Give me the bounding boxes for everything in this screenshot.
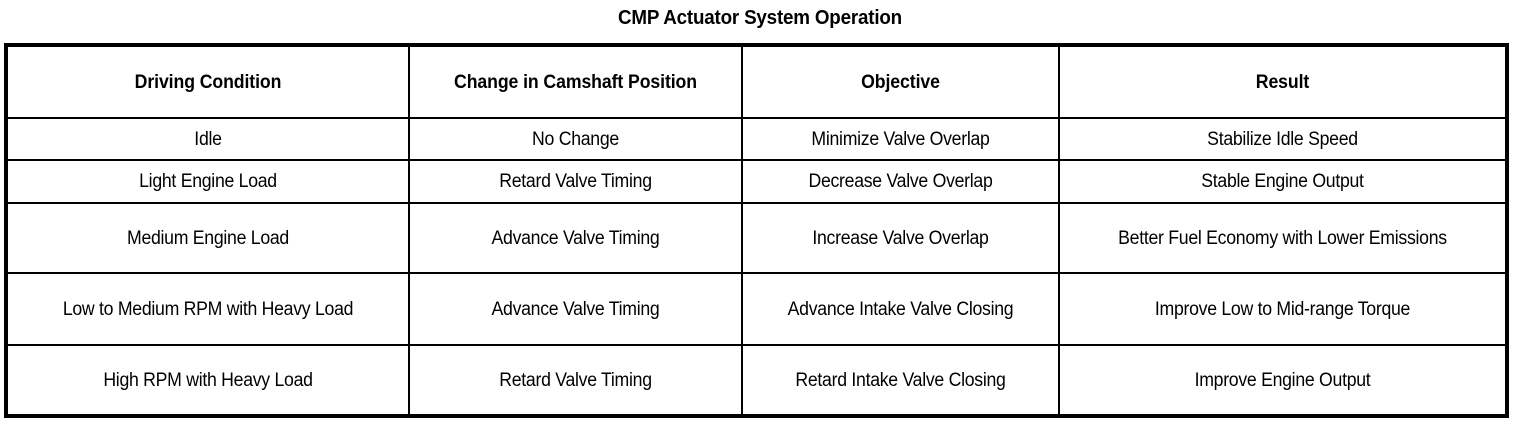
cell-objective-text: Minimize Valve Overlap (760, 127, 1042, 152)
cell-camshaft-change-text: Advance Valve Timing (427, 226, 724, 251)
cell-result: Stabilize Idle Speed (1059, 118, 1507, 160)
table-row: Low to Medium RPM with Heavy Load Advanc… (6, 273, 1507, 345)
cell-driving-condition-text: Low to Medium RPM with Heavy Load (28, 297, 389, 322)
cell-camshaft-change: Advance Valve Timing (409, 203, 742, 273)
cell-result: Better Fuel Economy with Lower Emissions (1059, 203, 1507, 273)
column-header-objective-label: Objective (760, 70, 1042, 95)
cell-camshaft-change-text: Retard Valve Timing (427, 368, 724, 393)
page-root: CMP Actuator System Operation Driving Co… (0, 0, 1520, 426)
cmp-actuator-operation-table: Driving Condition Change in Camshaft Pos… (4, 43, 1509, 418)
cell-driving-condition-text: Light Engine Load (28, 169, 389, 194)
table-row: Medium Engine Load Advance Valve Timing … (6, 203, 1507, 273)
cell-result-text: Stable Engine Output (1081, 169, 1484, 194)
column-header-objective: Objective (742, 45, 1059, 118)
cell-result-text: Better Fuel Economy with Lower Emissions (1081, 226, 1484, 251)
table-row: High RPM with Heavy Load Retard Valve Ti… (6, 345, 1507, 416)
table-container: Driving Condition Change in Camshaft Pos… (4, 43, 1509, 418)
cell-objective-text: Increase Valve Overlap (760, 226, 1042, 251)
cell-driving-condition-text: Idle (28, 127, 389, 152)
cell-result: Stable Engine Output (1059, 160, 1507, 203)
table-body: Idle No Change Minimize Valve Overlap St… (6, 118, 1507, 416)
cell-driving-condition: Light Engine Load (6, 160, 409, 203)
table-header-row: Driving Condition Change in Camshaft Pos… (6, 45, 1507, 118)
cell-camshaft-change: Retard Valve Timing (409, 160, 742, 203)
cell-camshaft-change-text: No Change (427, 127, 724, 152)
cell-objective-text: Decrease Valve Overlap (760, 169, 1042, 194)
cell-objective: Minimize Valve Overlap (742, 118, 1059, 160)
column-header-result-label: Result (1081, 70, 1484, 95)
cell-camshaft-change: Advance Valve Timing (409, 273, 742, 345)
cell-objective-text: Advance Intake Valve Closing (760, 297, 1042, 322)
cell-objective-text: Retard Intake Valve Closing (760, 368, 1042, 393)
cell-result-text: Improve Engine Output (1081, 368, 1484, 393)
table-row: Idle No Change Minimize Valve Overlap St… (6, 118, 1507, 160)
column-header-driving-condition: Driving Condition (6, 45, 409, 118)
cell-driving-condition: Low to Medium RPM with Heavy Load (6, 273, 409, 345)
column-header-driving-condition-label: Driving Condition (28, 70, 389, 95)
table-header: Driving Condition Change in Camshaft Pos… (6, 45, 1507, 118)
cell-camshaft-change: No Change (409, 118, 742, 160)
cell-result-text: Improve Low to Mid-range Torque (1081, 297, 1484, 322)
column-header-result: Result (1059, 45, 1507, 118)
cell-camshaft-change-text: Retard Valve Timing (427, 169, 724, 194)
cell-driving-condition: High RPM with Heavy Load (6, 345, 409, 416)
cell-result: Improve Low to Mid-range Torque (1059, 273, 1507, 345)
cell-driving-condition-text: Medium Engine Load (28, 226, 389, 251)
cell-driving-condition-text: High RPM with Heavy Load (28, 368, 389, 393)
page-title: CMP Actuator System Operation (46, 0, 1475, 43)
cell-result: Improve Engine Output (1059, 345, 1507, 416)
cell-objective: Retard Intake Valve Closing (742, 345, 1059, 416)
cell-result-text: Stabilize Idle Speed (1081, 127, 1484, 152)
cell-driving-condition: Medium Engine Load (6, 203, 409, 273)
cell-objective: Increase Valve Overlap (742, 203, 1059, 273)
cell-camshaft-change-text: Advance Valve Timing (427, 297, 724, 322)
cell-objective: Decrease Valve Overlap (742, 160, 1059, 203)
cell-driving-condition: Idle (6, 118, 409, 160)
cell-camshaft-change: Retard Valve Timing (409, 345, 742, 416)
table-row: Light Engine Load Retard Valve Timing De… (6, 160, 1507, 203)
cell-objective: Advance Intake Valve Closing (742, 273, 1059, 345)
column-header-camshaft-position-label: Change in Camshaft Position (427, 70, 724, 95)
column-header-camshaft-position: Change in Camshaft Position (409, 45, 742, 118)
